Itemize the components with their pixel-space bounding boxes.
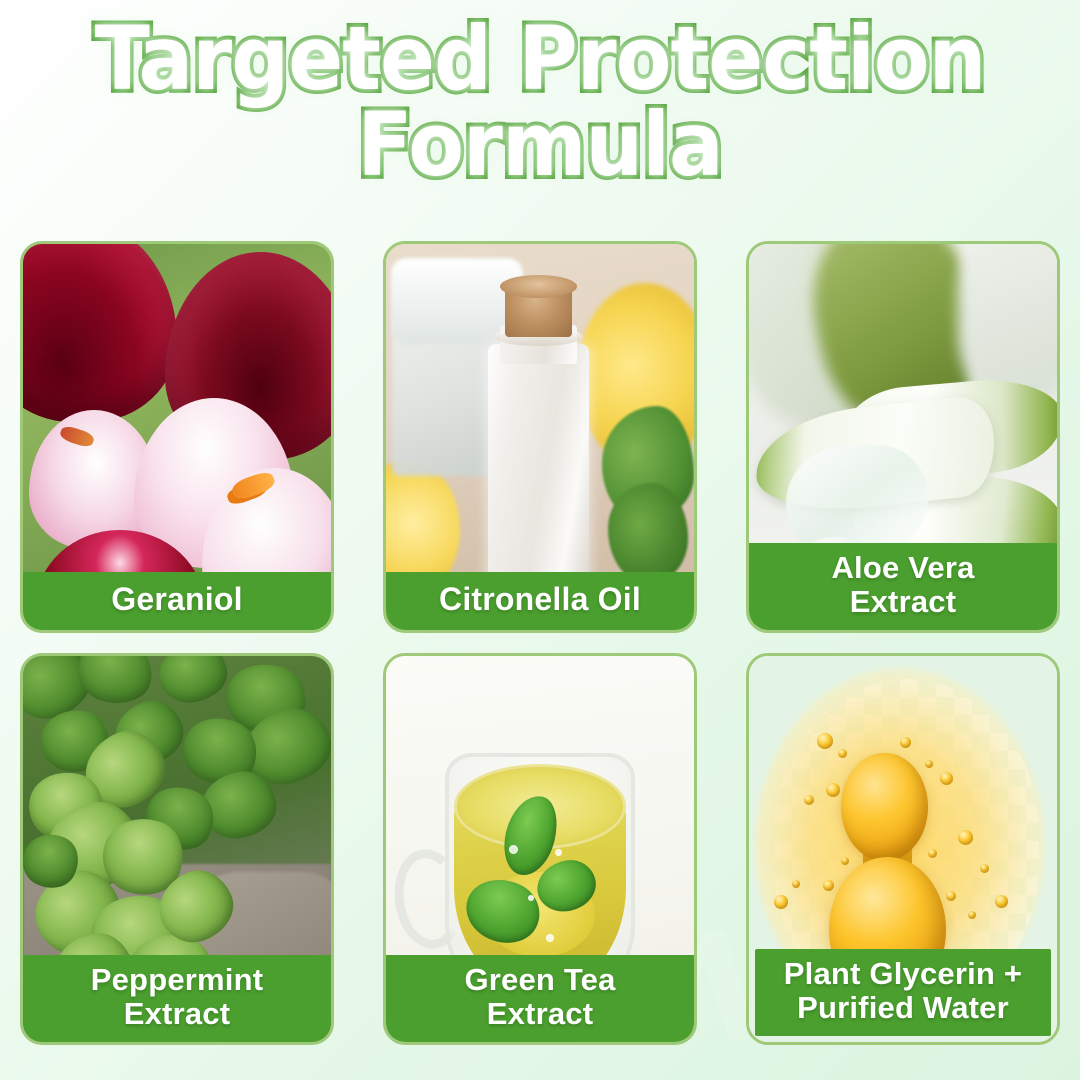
ingredient-label-line-1: Peppermint xyxy=(27,963,327,998)
ingredient-grid: Geraniol Citronella Oil xyxy=(20,241,1060,1045)
title-line-1: Targeted Protection xyxy=(43,16,1037,102)
ingredient-label: Peppermint Extract xyxy=(23,955,331,1042)
ingredient-label-line-2: Extract xyxy=(390,997,690,1032)
ingredient-label-line-2: Extract xyxy=(753,585,1053,620)
title-line-2: Formula xyxy=(43,102,1037,188)
ingredient-card-geraniol[interactable]: Geraniol xyxy=(20,241,334,633)
ingredient-poster: W W W Targeted Protection Formula Gerani… xyxy=(0,0,1080,1080)
ingredient-card-peppermint-extract[interactable]: Peppermint Extract xyxy=(20,653,334,1045)
ingredient-label-line-1: Citronella Oil xyxy=(392,582,688,618)
ingredient-label-line-1: Plant Glycerin + xyxy=(759,957,1047,992)
ingredient-card-citronella-oil[interactable]: Citronella Oil xyxy=(383,241,697,633)
ingredient-label: Green Tea Extract xyxy=(386,955,694,1042)
ingredient-label-line-1: Geraniol xyxy=(29,582,325,618)
ingredient-card-green-tea-extract[interactable]: Green Tea Extract xyxy=(383,653,697,1045)
ingredient-card-aloe-vera-extract[interactable]: Aloe Vera Extract xyxy=(746,241,1060,633)
ingredient-label-line-2: Extract xyxy=(27,997,327,1032)
ingredient-label: Plant Glycerin + Purified Water xyxy=(755,949,1051,1036)
ingredient-label: Aloe Vera Extract xyxy=(749,543,1057,630)
ingredient-label-line-1: Aloe Vera xyxy=(753,551,1053,586)
page-title: Targeted Protection Formula xyxy=(0,16,1080,188)
ingredient-label: Geraniol xyxy=(23,572,331,630)
ingredient-label-line-2: Purified Water xyxy=(759,991,1047,1026)
ingredient-label: Citronella Oil xyxy=(386,572,694,630)
ingredient-label-line-1: Green Tea xyxy=(390,963,690,998)
ingredient-card-plant-glycerin[interactable]: Plant Glycerin + Purified Water xyxy=(746,653,1060,1045)
